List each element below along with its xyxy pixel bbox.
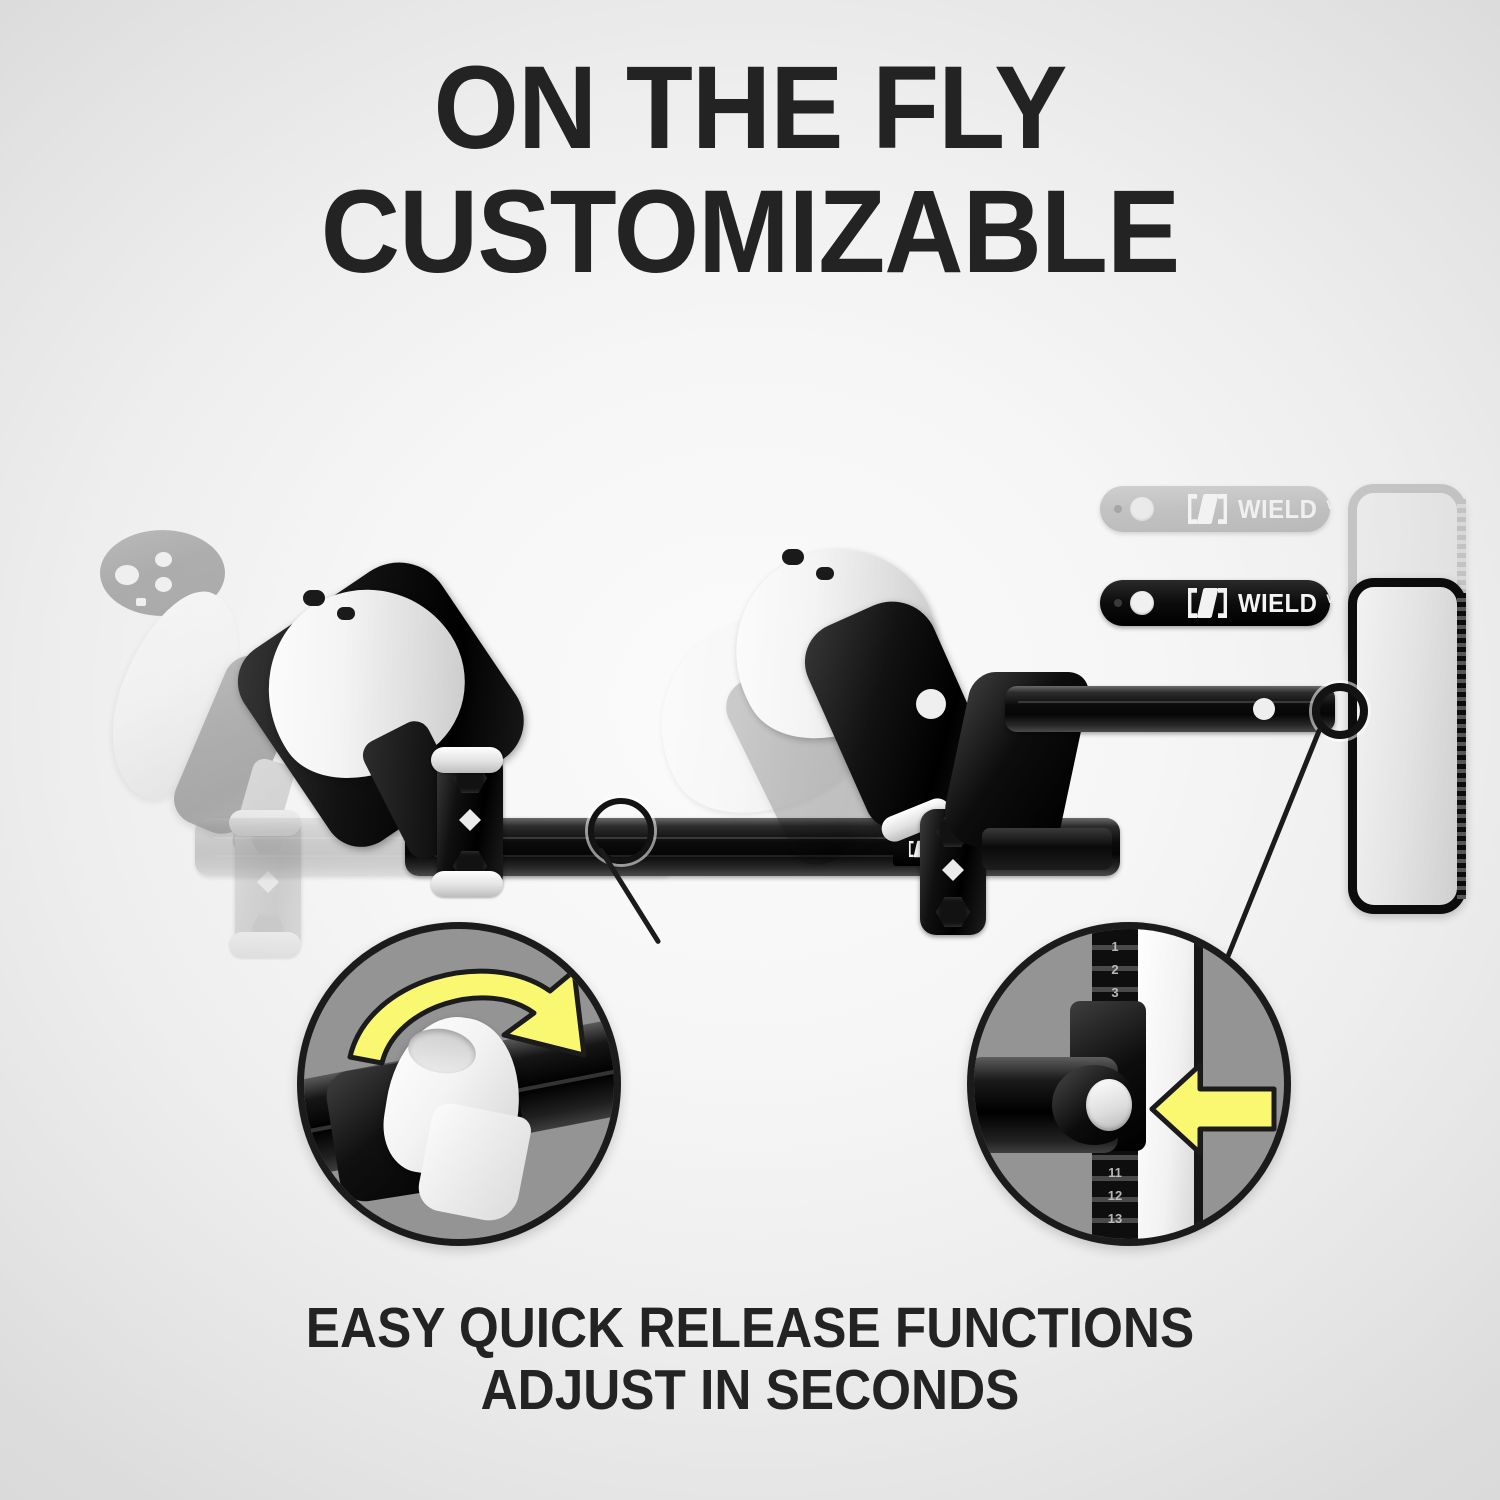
zoom-lever-tail bbox=[415, 1100, 534, 1225]
controller-mounted-left bbox=[255, 585, 555, 895]
lock-icon bbox=[459, 809, 481, 831]
controller-top-button bbox=[816, 567, 834, 580]
callout-scene: 123 111213 bbox=[974, 929, 1284, 1239]
badge-pin bbox=[1114, 599, 1122, 607]
brand-wordmark: WIELD bbox=[1238, 494, 1317, 525]
wield-bracket-logo bbox=[1188, 588, 1227, 618]
callout-rail-slide: 123 111213 bbox=[967, 922, 1291, 1246]
callout-quick-release-lever bbox=[297, 922, 621, 1246]
quick-release-wing bbox=[229, 932, 301, 958]
badge-primary: WIELD VR bbox=[1100, 580, 1330, 626]
caption-line-1: EASY QUICK RELEASE FUNCTIONS bbox=[75, 1300, 1425, 1357]
controller-top-button bbox=[782, 549, 804, 565]
brand-superscript: VR bbox=[1326, 592, 1343, 606]
rotation-arrow-icon bbox=[338, 947, 621, 1087]
quick-release-wing bbox=[431, 747, 503, 773]
brand-superscript: VR bbox=[1326, 498, 1343, 512]
rail-teeth bbox=[1457, 593, 1466, 899]
zoom-knob-cap bbox=[1086, 1079, 1132, 1131]
badge-pin bbox=[1114, 505, 1122, 513]
zoom-rail-numbers-lower: 111213 bbox=[1094, 1161, 1136, 1230]
button-x-icon bbox=[155, 577, 172, 592]
clamp-solid-1 bbox=[437, 753, 503, 891]
hex-bolt-icon bbox=[936, 897, 970, 927]
brand-wordmark: WIELD bbox=[1238, 588, 1317, 619]
zoom-rail-numbers-upper: 123 bbox=[1094, 935, 1136, 1004]
callout-target-left bbox=[588, 798, 654, 864]
headset-bracket: WIELD VR bbox=[1100, 578, 1500, 898]
cradle-release-button bbox=[916, 689, 946, 719]
extension-arm-lower-stub bbox=[982, 828, 1112, 870]
badge-ghost: WIELD VR bbox=[1100, 486, 1330, 532]
menu-button-icon bbox=[136, 598, 146, 606]
product-rig-illustration: WIELD VR WIELD VR bbox=[0, 0, 1500, 950]
button-y-icon bbox=[155, 552, 172, 567]
quick-release-wing bbox=[431, 871, 503, 897]
brand-lockup: WIELD VR bbox=[1188, 588, 1343, 619]
thumbstick-icon bbox=[115, 565, 139, 585]
headset-rail bbox=[1348, 578, 1466, 914]
controller-top-button bbox=[303, 590, 325, 606]
product-marketing-image: ON THE FLY CUSTOMIZABLE bbox=[0, 0, 1500, 1500]
controller-top-button bbox=[337, 607, 355, 620]
wield-bracket-logo bbox=[1188, 494, 1227, 524]
caption-line-2: ADJUST IN SECONDS bbox=[75, 1362, 1425, 1419]
badge-eyelet bbox=[1130, 497, 1154, 521]
badge-eyelet bbox=[1130, 591, 1154, 615]
brand-lockup: WIELD VR bbox=[1188, 494, 1343, 525]
lock-icon bbox=[942, 859, 964, 881]
callout-scene bbox=[304, 929, 614, 1239]
slide-arrow-icon bbox=[1148, 1057, 1278, 1162]
